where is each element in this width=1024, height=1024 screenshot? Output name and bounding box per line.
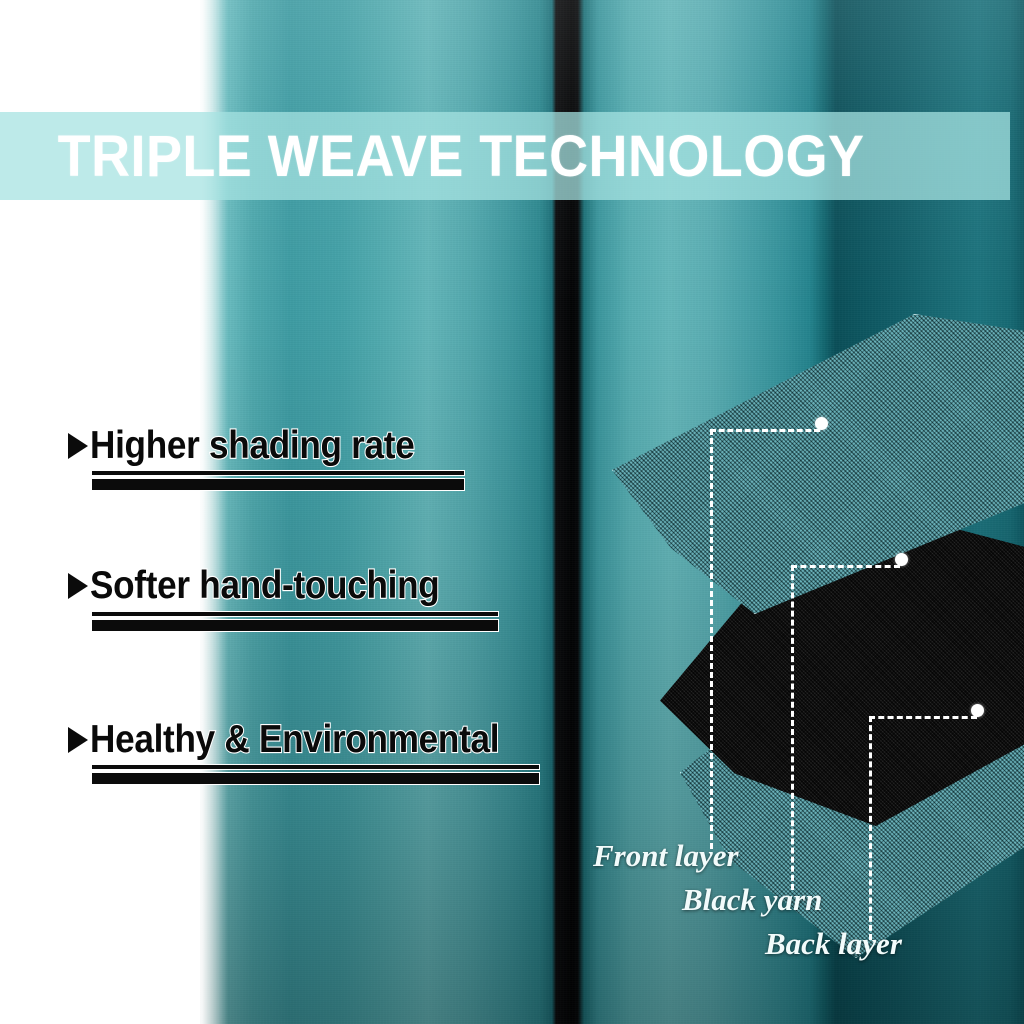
- feature-underline-2: [91, 611, 499, 632]
- feature-item-2: Softer hand-touching: [68, 564, 478, 608]
- leader-dot-black-yarn: [895, 553, 908, 566]
- feature-label: Higher shading rate: [90, 424, 414, 468]
- layer-label-black-yarn: Black yarn: [682, 882, 822, 918]
- underline-thin-rule: [91, 470, 465, 476]
- leader-horizontal-segment: [869, 716, 977, 719]
- underline-thin-rule: [91, 611, 499, 617]
- underline-thick-rule: [91, 772, 540, 785]
- product-infographic: TRIPLE WEAVE TECHNOLOGY Higher shading r…: [0, 0, 1024, 1024]
- triangle-right-icon: [68, 573, 88, 599]
- triple-weave-layer-diagram: [600, 300, 1024, 860]
- triangle-right-icon: [68, 727, 88, 753]
- leader-vertical-segment: [869, 716, 872, 940]
- layer-label-back-layer: Back layer: [765, 926, 902, 962]
- feature-underline-3: [91, 764, 540, 785]
- page-title: TRIPLE WEAVE TECHNOLOGY: [0, 112, 939, 200]
- leader-vertical-segment: [710, 429, 713, 849]
- triangle-right-icon: [68, 433, 88, 459]
- leader-dot-front-layer: [815, 417, 828, 430]
- leader-horizontal-segment: [791, 565, 900, 568]
- leader-dot-back-layer: [971, 704, 984, 717]
- underline-thick-rule: [91, 478, 465, 491]
- feature-label: Softer hand-touching: [90, 564, 439, 608]
- feature-underline-1: [91, 470, 465, 491]
- underline-thin-rule: [91, 764, 540, 770]
- layer-label-front-layer: Front layer: [593, 838, 739, 874]
- leader-vertical-segment: [791, 565, 794, 890]
- underline-thick-rule: [91, 619, 499, 632]
- feature-item-1: Higher shading rate: [68, 424, 451, 468]
- feature-label: Healthy & Environmental: [90, 718, 499, 762]
- feature-item-3: Healthy & Environmental: [68, 718, 545, 762]
- leader-horizontal-segment: [710, 429, 820, 432]
